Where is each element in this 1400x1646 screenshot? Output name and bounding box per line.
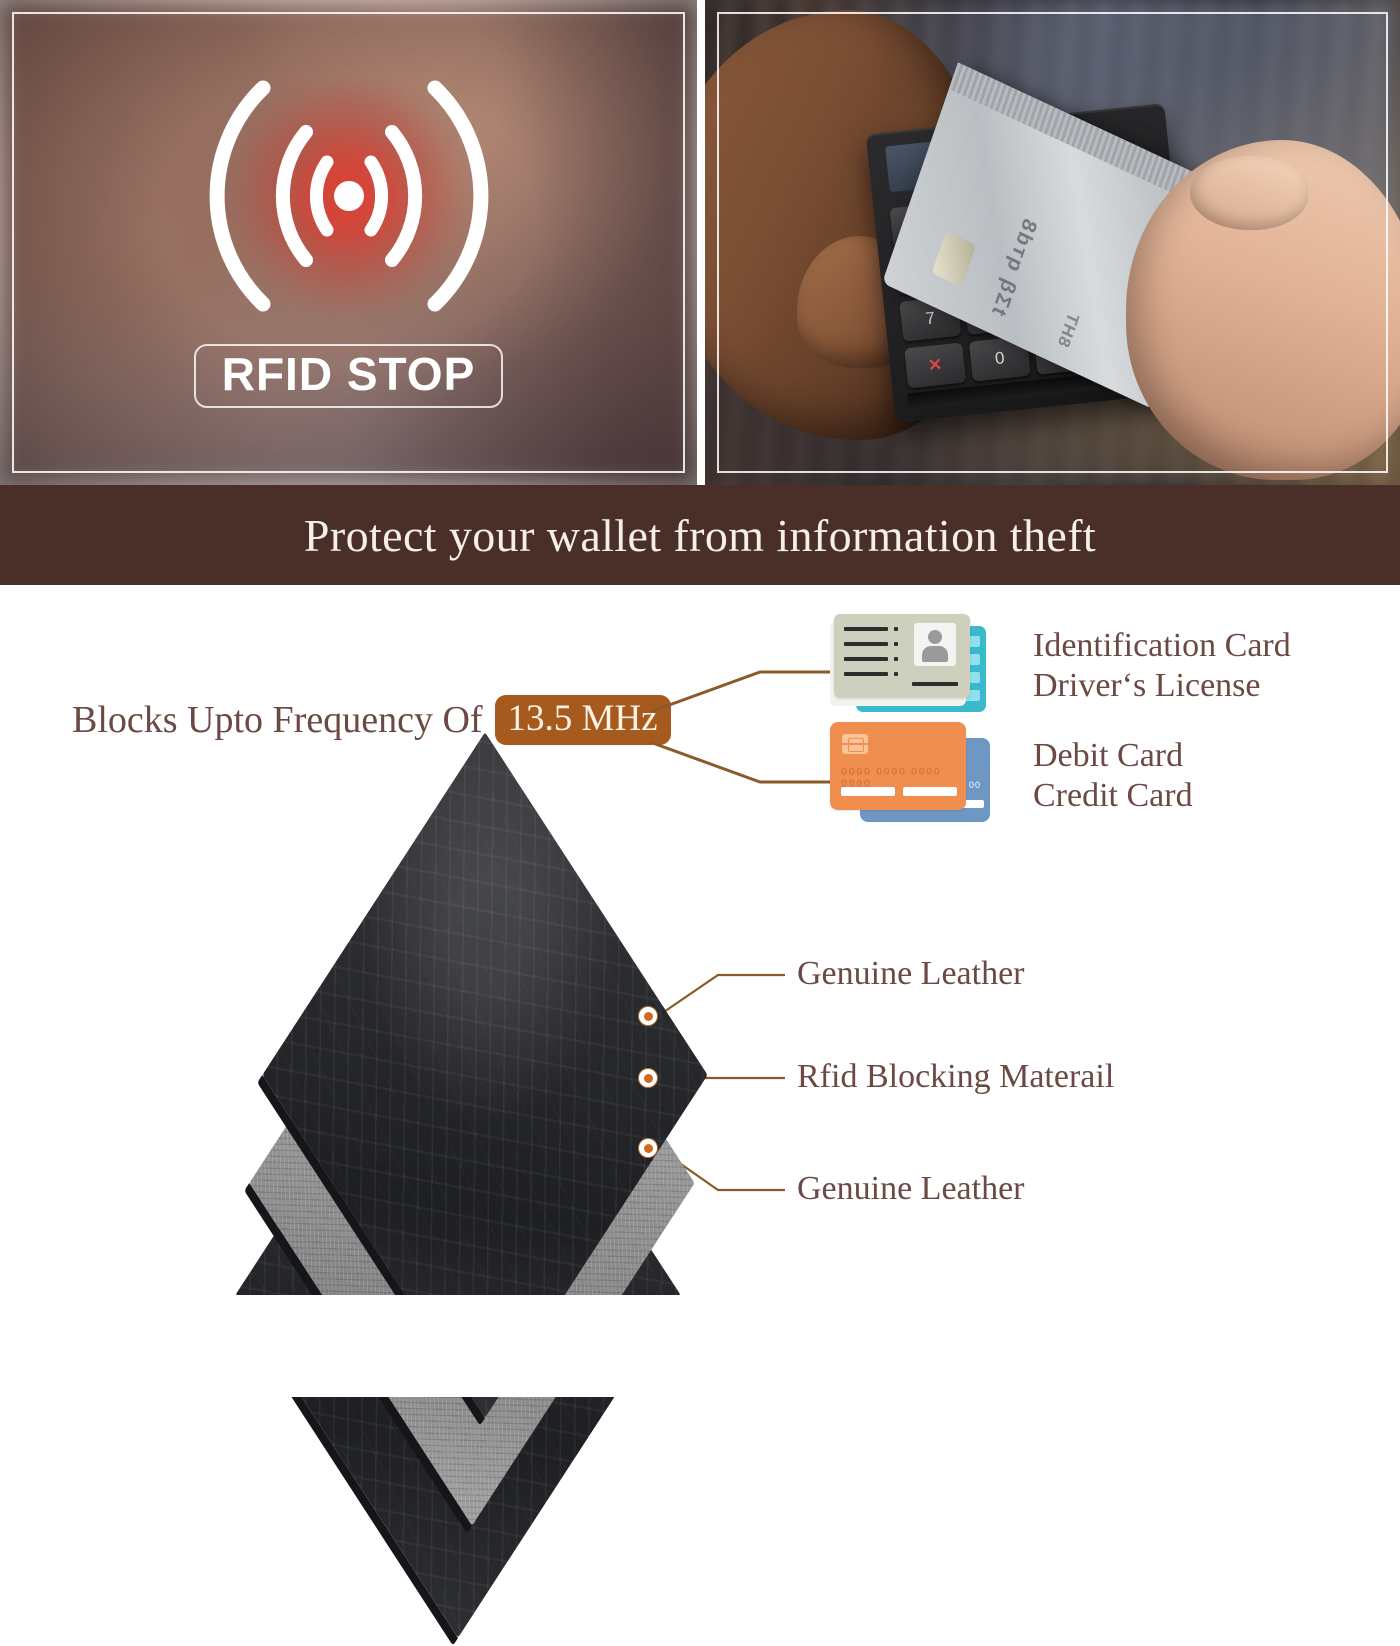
card-white-bar — [903, 787, 957, 796]
label-credit-card: Credit Card — [1033, 776, 1193, 816]
customer-thumb — [1190, 156, 1308, 230]
id-card-signature-line — [912, 682, 958, 686]
label-identification-card: Identification Card — [1033, 626, 1291, 666]
layer-marker-bottom — [638, 1138, 658, 1158]
portrait-body — [922, 646, 948, 662]
material-layers-diagram — [0, 865, 1400, 1295]
keypad-cancel-key: ✕ — [904, 343, 966, 389]
layer-marker-middle — [638, 1068, 658, 1088]
layer-label-top: Genuine Leather — [797, 955, 1025, 993]
id-card-text-lines — [844, 627, 888, 687]
payment-card-labels: Debit Card Credit Card — [1033, 736, 1193, 816]
payment-card-front: 0000 0000 0000 0000 — [830, 722, 966, 810]
back-card-digits: 00 — [969, 780, 981, 790]
rfid-signal-waves-icon — [199, 62, 499, 330]
hero-photo-row: RFID STOP 1 2 3 4 5 6 7 8 9 ✕ 0 ← — [0, 0, 1400, 485]
rfid-stop-photo-panel: RFID STOP — [0, 0, 697, 485]
id-card-icon — [826, 612, 991, 720]
card-number-text: 8bтр βΣt — [986, 215, 1041, 322]
label-drivers-license: Driver‘s License — [1033, 666, 1291, 706]
rfid-stop-badge: RFID STOP — [194, 344, 504, 408]
layer-marker-top — [638, 1006, 658, 1026]
bottom-whitespace — [0, 1295, 1400, 1397]
layer-label-middle: Rfid Blocking Materail — [797, 1058, 1114, 1096]
id-card-portrait — [914, 623, 956, 666]
headline-text: Protect your wallet from information the… — [304, 509, 1096, 562]
credit-card-icon: 00 0000 0000 0000 0000 — [826, 722, 991, 830]
identification-labels: Identification Card Driver‘s License — [1033, 626, 1291, 706]
frequency-value-badge: 13.5 MHz — [495, 695, 671, 745]
frequency-prefix-text: Blocks Upto Frequency Of — [72, 698, 483, 742]
emv-chip-icon — [842, 734, 868, 754]
target-row-payment-cards: 00 0000 0000 0000 0000 Debit Card Credit… — [826, 722, 1193, 830]
card-payment-photo-panel: 1 2 3 4 5 6 7 8 9 ✕ 0 ← 8bтр βΣt TH8 — [705, 0, 1400, 485]
card-white-bar — [841, 787, 895, 796]
target-row-identification: Identification Card Driver‘s License — [826, 612, 1291, 720]
label-debit-card: Debit Card — [1033, 736, 1193, 776]
id-card-front — [834, 614, 970, 698]
portrait-head — [928, 630, 942, 644]
card-chip — [932, 231, 976, 287]
rfid-stop-label: RFID STOP — [222, 351, 476, 397]
card-holder-text: TH8 — [1053, 309, 1083, 351]
id-card-dots — [894, 627, 898, 687]
headline-banner: Protect your wallet from information the… — [0, 485, 1400, 585]
frequency-statement: Blocks Upto Frequency Of 13.5 MHz — [72, 695, 671, 745]
layer-label-bottom: Genuine Leather — [797, 1170, 1025, 1208]
